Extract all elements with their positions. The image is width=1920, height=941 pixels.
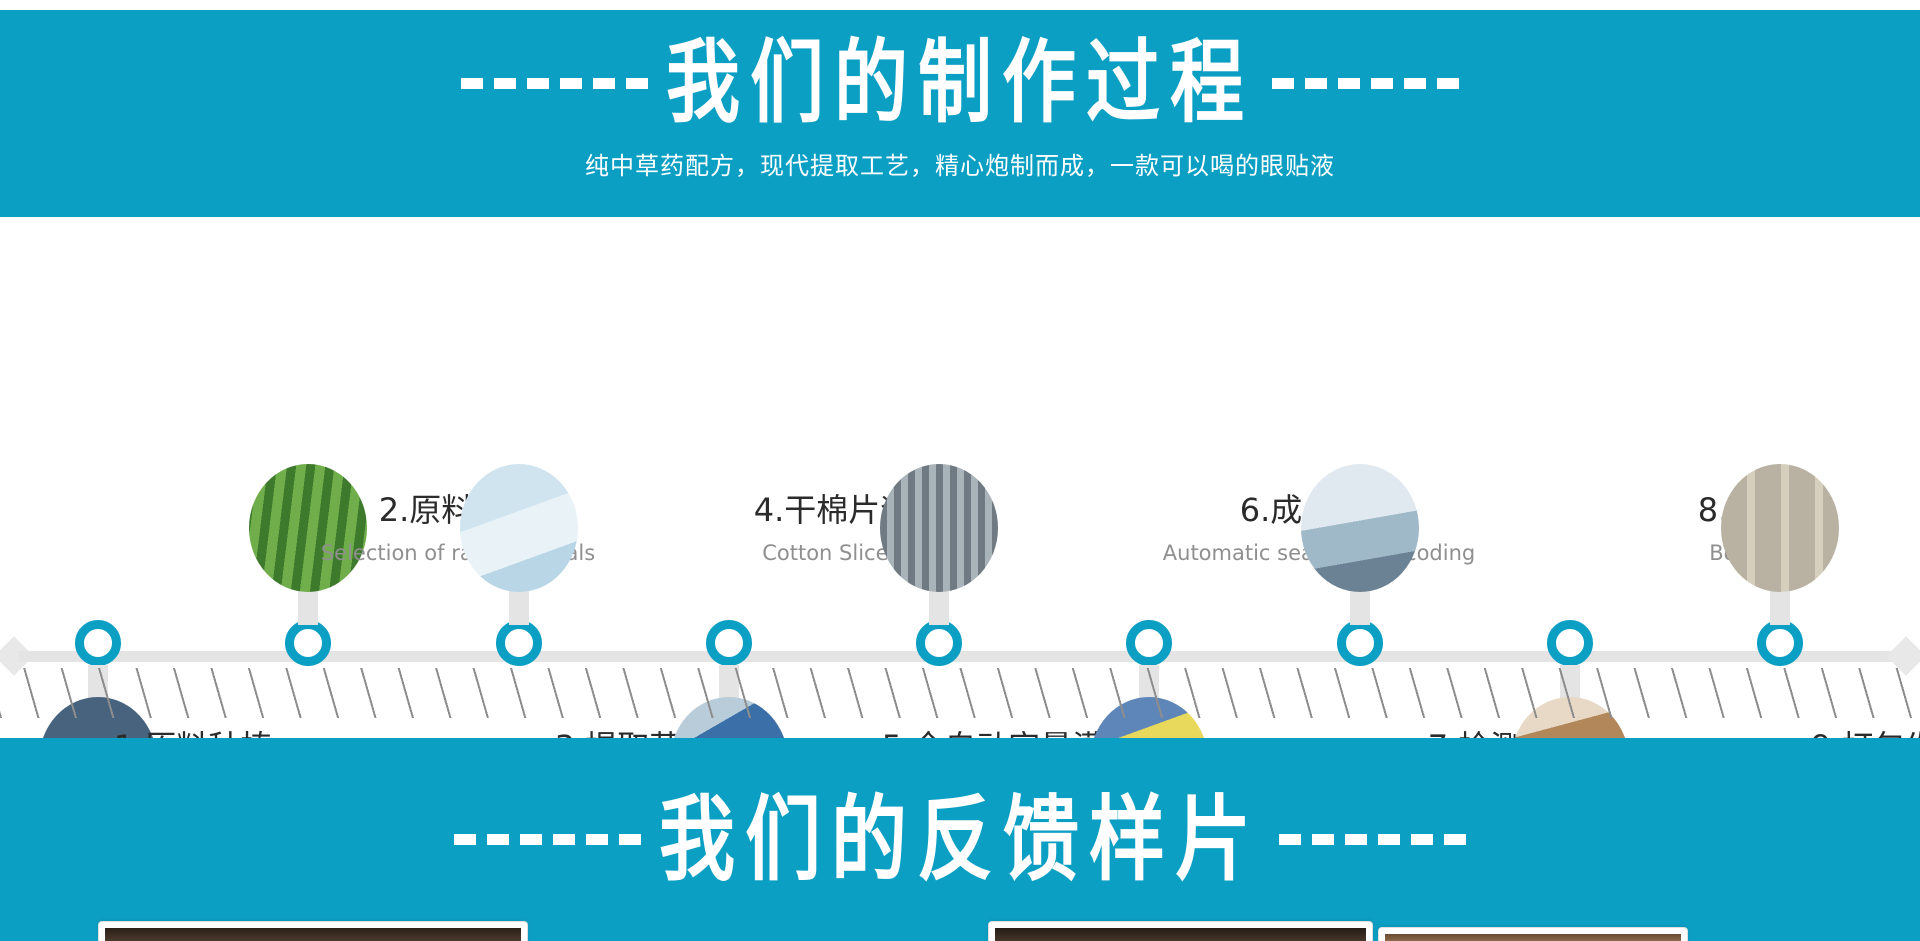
dash-right xyxy=(1272,78,1459,89)
timeline-connector xyxy=(509,589,529,625)
feedback-title: 我们的反馈样片 xyxy=(659,793,1261,886)
dash-right xyxy=(1279,834,1466,845)
timeline-connector xyxy=(1350,589,1370,625)
timeline-connector xyxy=(929,589,949,625)
page-root: 我们的制作过程 纯中草药配方，现代提取工艺，精心炮制而成，一款可以喝的眼贴液 1… xyxy=(0,0,1920,941)
feedback-card-image xyxy=(1385,934,1681,941)
feedback-card-image xyxy=(105,928,521,941)
timeline-connector xyxy=(298,589,318,625)
timeline-node-8[interactable] xyxy=(1547,620,1593,666)
dash-left xyxy=(454,834,641,845)
feedback-card-image xyxy=(995,928,1366,941)
step-thumbnail-lab-technician xyxy=(460,464,578,592)
timeline-node-6[interactable] xyxy=(1126,620,1172,666)
step-thumbnail-qc-lab-instrument xyxy=(1301,464,1419,592)
timeline-node-4[interactable] xyxy=(706,620,752,666)
timeline-node-3[interactable] xyxy=(496,620,542,666)
feedback-banner-title-row: 我们的反馈样片 xyxy=(454,802,1466,878)
timeline-node-1[interactable] xyxy=(75,620,121,666)
feedback-card[interactable] xyxy=(1378,927,1688,941)
timeline-node-7[interactable] xyxy=(1337,620,1383,666)
process-banner-title-row: 我们的制作过程 xyxy=(461,46,1459,120)
step-thumbnail-filling-machine xyxy=(880,464,998,592)
page-title: 我们的制作过程 xyxy=(666,38,1254,128)
timeline-node-9[interactable] xyxy=(1757,620,1803,666)
feedback-banner: 我们的反馈样片 xyxy=(0,738,1920,941)
timeline-connector xyxy=(1770,589,1790,625)
timeline-node-5[interactable] xyxy=(916,620,962,666)
diagonal-hatch-divider xyxy=(0,668,1920,718)
feedback-card[interactable] xyxy=(988,921,1373,941)
step-thumbnail-stacked-cartons xyxy=(1721,464,1839,592)
dash-left xyxy=(461,78,648,89)
feedback-card[interactable] xyxy=(98,921,528,941)
process-banner-subtitle: 纯中草药配方，现代提取工艺，精心炮制而成，一款可以喝的眼贴液 xyxy=(585,146,1335,181)
timeline-node-2[interactable] xyxy=(285,620,331,666)
process-banner: 我们的制作过程 纯中草药配方，现代提取工艺，精心炮制而成，一款可以喝的眼贴液 xyxy=(0,10,1920,217)
process-timeline: 1.原料种植Raw material planting2.原料挑选Selecti… xyxy=(0,217,1920,637)
